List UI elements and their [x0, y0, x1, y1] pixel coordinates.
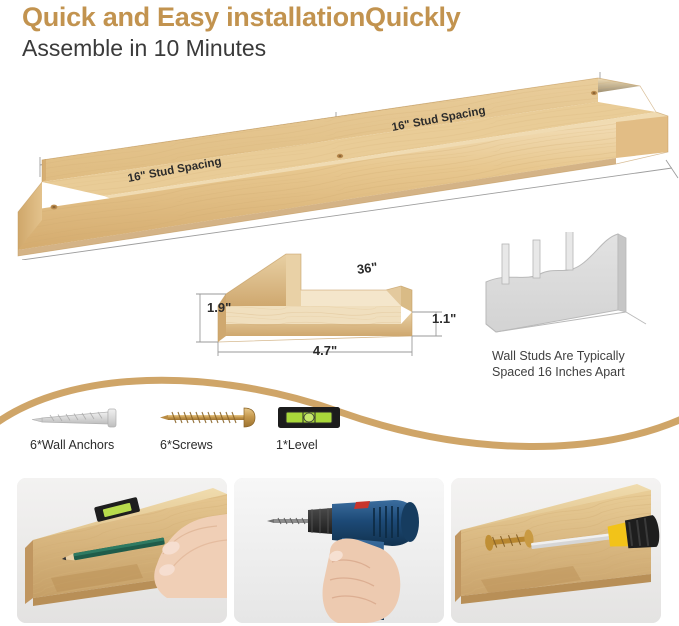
wall-anchor-icon	[30, 400, 135, 436]
label-cross-section-height: 1.9"	[207, 300, 231, 315]
page-subtitle: Assemble in 10 Minutes	[22, 35, 266, 62]
photo-drill-wall	[234, 478, 444, 623]
shelf-3d-body	[18, 78, 668, 256]
hardware-label-wall-anchors: 6*Wall Anchors	[30, 438, 135, 452]
photo-mark-with-pencil	[17, 478, 227, 623]
photo-drive-screw	[451, 478, 661, 623]
infographic-root: Quick and Easy installationQuickly Assem…	[0, 0, 679, 626]
hero-shelf-diagram: 16" Stud Spacing 16" Stud Spacing 36"	[0, 60, 679, 260]
hardware-label-level: 1*Level	[276, 438, 346, 452]
hardware-item-level: 1*Level	[276, 400, 346, 460]
hardware-item-screws: 6*Screws	[160, 400, 265, 460]
label-cross-section-lip-height: 1.1"	[432, 311, 456, 326]
screw-icon	[160, 400, 265, 436]
label-cross-section-depth: 4.7"	[313, 343, 337, 358]
installation-photo-strip	[0, 478, 679, 626]
hardware-label-screws: 6*Screws	[160, 438, 265, 452]
level-icon	[276, 400, 346, 436]
page-title: Quick and Easy installationQuickly	[22, 2, 460, 33]
hardware-item-wall-anchors: 6*Wall Anchors	[30, 400, 135, 460]
wall-studs-diagram	[478, 232, 663, 342]
